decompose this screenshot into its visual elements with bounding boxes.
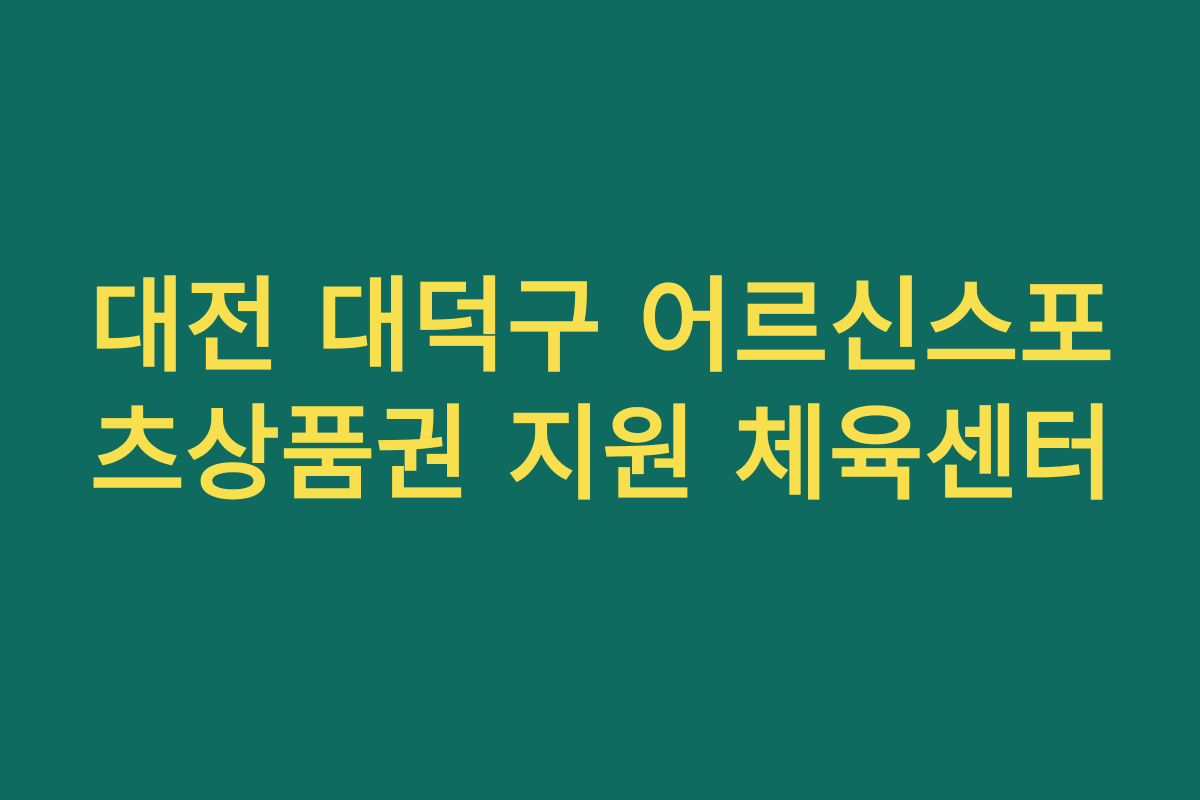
banner-title: 대전 대덕구 어르신스포 츠상품권 지원 체육센터: [90, 263, 1110, 519]
text-banner: 대전 대덕구 어르신스포 츠상품권 지원 체육센터: [0, 0, 1200, 800]
banner-title-line-1: 대전 대덕구 어르신스포: [90, 263, 1110, 391]
banner-title-line-2: 츠상품권 지원 체육센터: [90, 391, 1110, 519]
